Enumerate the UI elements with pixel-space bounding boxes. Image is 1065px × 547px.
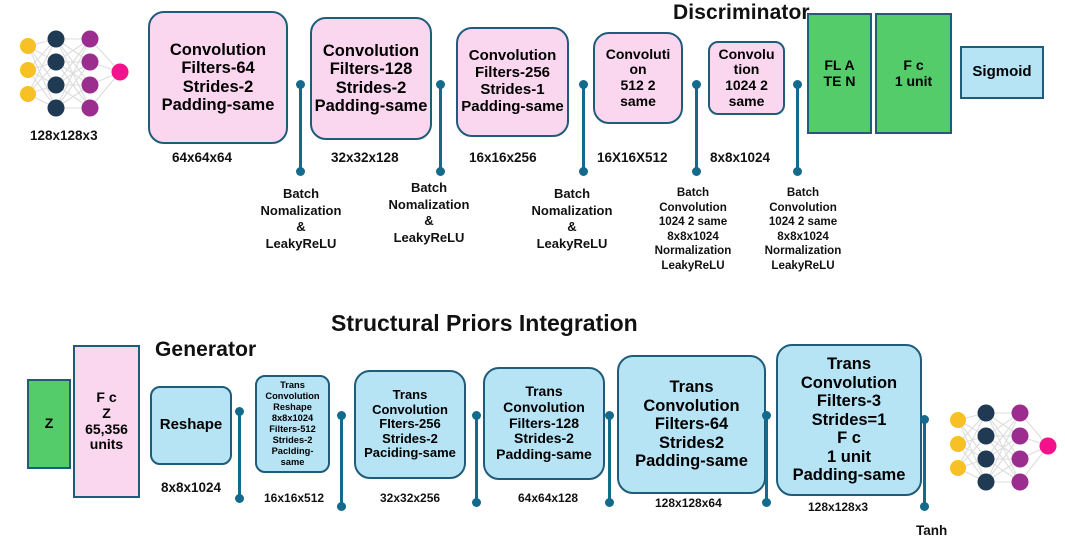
connector-dot-bottom [436, 167, 445, 176]
connector-g2 [337, 414, 346, 508]
connector-line [796, 83, 799, 173]
connector-d5 [793, 83, 802, 173]
connector-d3 [579, 83, 588, 173]
connector-dot-bottom [920, 502, 929, 511]
caption-tconv-3: 128x128x3 [808, 500, 868, 514]
connector-dot-top [337, 411, 346, 420]
caption-conv-256: 16x16x256 [469, 150, 537, 165]
connector-dot-top [692, 80, 701, 89]
connector-dot-top [762, 411, 771, 420]
connector-dot-top [235, 407, 244, 416]
caption-tconv-512: 16x16x512 [264, 491, 324, 505]
annotation-batchnorm-3: Batch Nomalization & LeakyReLU [511, 186, 633, 253]
block-conv-512[interactable]: Convoluti on 512 2 same [593, 32, 683, 124]
block-conv-1024[interactable]: Convolu tion 1024 2 same [708, 41, 785, 115]
connector-g6 [920, 418, 929, 508]
generator-title: Generator [155, 338, 256, 362]
block-tconv-128[interactable]: Trans Convolution Filters-128 Strides-2 … [483, 367, 605, 480]
block-conv-1024-label: Convolu tion 1024 2 same [712, 47, 781, 110]
annotation-batch-conv-2: Batch Convolution 1024 2 same 8x8x1024 N… [748, 186, 858, 274]
discriminator-input-caption: 128x128x3 [30, 128, 98, 143]
block-tconv-128-label: Trans Convolution Filters-128 Strides-2 … [487, 384, 601, 462]
block-tconv-512[interactable]: Trans Convolution Reshape 8x8x1024 Filte… [255, 375, 330, 473]
connector-dot-top [920, 415, 929, 424]
input-neural-net-icon [8, 14, 133, 124]
block-fc-1unit-label: F c 1 unit [879, 58, 948, 89]
connector-dot-bottom [762, 498, 771, 507]
block-conv-512-label: Convoluti on 512 2 same [597, 47, 679, 110]
block-sigmoid[interactable]: Sigmoid [960, 46, 1044, 99]
connector-dot-top [579, 80, 588, 89]
connector-d2 [436, 83, 445, 173]
connector-line [582, 83, 585, 173]
connector-g3 [472, 414, 481, 504]
block-fc-z-label: F c Z 65,356 units [77, 390, 136, 453]
connector-dot-top [605, 411, 614, 420]
connector-dot-top [793, 80, 802, 89]
connector-line [238, 410, 241, 500]
connector-g5 [762, 414, 771, 504]
caption-tconv-64: 128x128x64 [655, 496, 722, 510]
block-reshape[interactable]: Reshape [150, 386, 232, 465]
connector-dot-bottom [579, 167, 588, 176]
block-flatten-label: FL A TE N [811, 58, 868, 89]
annotation-batch-conv-1: Batch Convolution 1024 2 same 8x8x1024 N… [638, 186, 748, 274]
connector-line [439, 83, 442, 173]
connector-g4 [605, 414, 614, 504]
output-neural-net-icon [940, 388, 1060, 498]
generator-output-label: Tanh [916, 523, 947, 538]
block-conv-64-label: Convolution Filters-64 Strides-2 Padding… [152, 41, 284, 115]
block-tconv-64[interactable]: Trans Convolution Filters-64 Strides2 Pa… [617, 355, 766, 494]
annotation-batchnorm-2: Batch Nomalization & LeakyReLU [368, 180, 490, 247]
caption-tconv-256: 32x32x256 [380, 491, 440, 505]
caption-conv-512: 16X16X512 [597, 150, 668, 165]
connector-dot-bottom [692, 167, 701, 176]
block-reshape-label: Reshape [154, 417, 228, 434]
connector-line [695, 83, 698, 173]
caption-reshape: 8x8x1024 [161, 480, 221, 495]
block-tconv-3[interactable]: Trans Convolution Filters-3 Strides=1 F … [776, 344, 922, 496]
connector-d1 [296, 83, 305, 173]
caption-conv-64: 64x64x64 [172, 150, 232, 165]
connector-dot-bottom [793, 167, 802, 176]
connector-dot-top [436, 80, 445, 89]
block-flatten[interactable]: FL A TE N [807, 13, 872, 134]
block-tconv-3-label: Trans Convolution Filters-3 Strides=1 F … [780, 355, 918, 484]
caption-conv-128: 32x32x128 [331, 150, 399, 165]
connector-dot-bottom [296, 167, 305, 176]
caption-tconv-128: 64x64x128 [518, 491, 578, 505]
connector-g1 [235, 410, 244, 500]
diagram-canvas: 128x128x3 Discriminator Convolution Filt… [0, 0, 1065, 547]
block-fc-z[interactable]: F c Z 65,356 units [73, 345, 140, 498]
block-tconv-512-label: Trans Convolution Reshape 8x8x1024 Filte… [259, 380, 326, 468]
connector-line [340, 414, 343, 508]
caption-conv-1024: 8x8x1024 [710, 150, 770, 165]
block-tconv-64-label: Trans Convolution Filters-64 Strides2 Pa… [621, 378, 762, 470]
connector-dot-top [296, 80, 305, 89]
structural-priors-title: Structural Priors Integration [331, 310, 638, 337]
annotation-batchnorm-1: Batch Nomalization & LeakyReLU [240, 186, 362, 253]
connector-d4 [692, 83, 701, 173]
connector-dot-bottom [472, 498, 481, 507]
block-tconv-256[interactable]: Trans Convolution FIters-256 Strides-2 P… [354, 370, 466, 479]
block-fc-1unit[interactable]: F c 1 unit [875, 13, 952, 134]
connector-dot-bottom [337, 502, 346, 511]
connector-dot-bottom [605, 498, 614, 507]
connector-line [475, 414, 478, 504]
block-conv-64[interactable]: Convolution Filters-64 Strides-2 Padding… [148, 11, 288, 144]
block-z-input-label: Z [31, 416, 67, 432]
block-sigmoid-label: Sigmoid [964, 64, 1040, 81]
block-z-input[interactable]: Z [27, 379, 71, 469]
discriminator-title: Discriminator [673, 1, 810, 25]
connector-line [299, 83, 302, 173]
block-tconv-256-label: Trans Convolution FIters-256 Strides-2 P… [358, 388, 462, 461]
block-conv-128-label: Convolution Filters-128 Strides-2 Paddin… [314, 42, 428, 116]
block-conv-256[interactable]: Convolution Filters-256 Strides-1 Paddin… [456, 27, 569, 137]
connector-line [765, 414, 768, 504]
block-conv-256-label: Convolution Filters-256 Strides-1 Paddin… [460, 48, 565, 115]
connector-line [608, 414, 611, 504]
connector-dot-top [472, 411, 481, 420]
block-conv-128[interactable]: Convolution Filters-128 Strides-2 Paddin… [310, 17, 432, 140]
connector-line [923, 418, 926, 508]
connector-dot-bottom [235, 494, 244, 503]
